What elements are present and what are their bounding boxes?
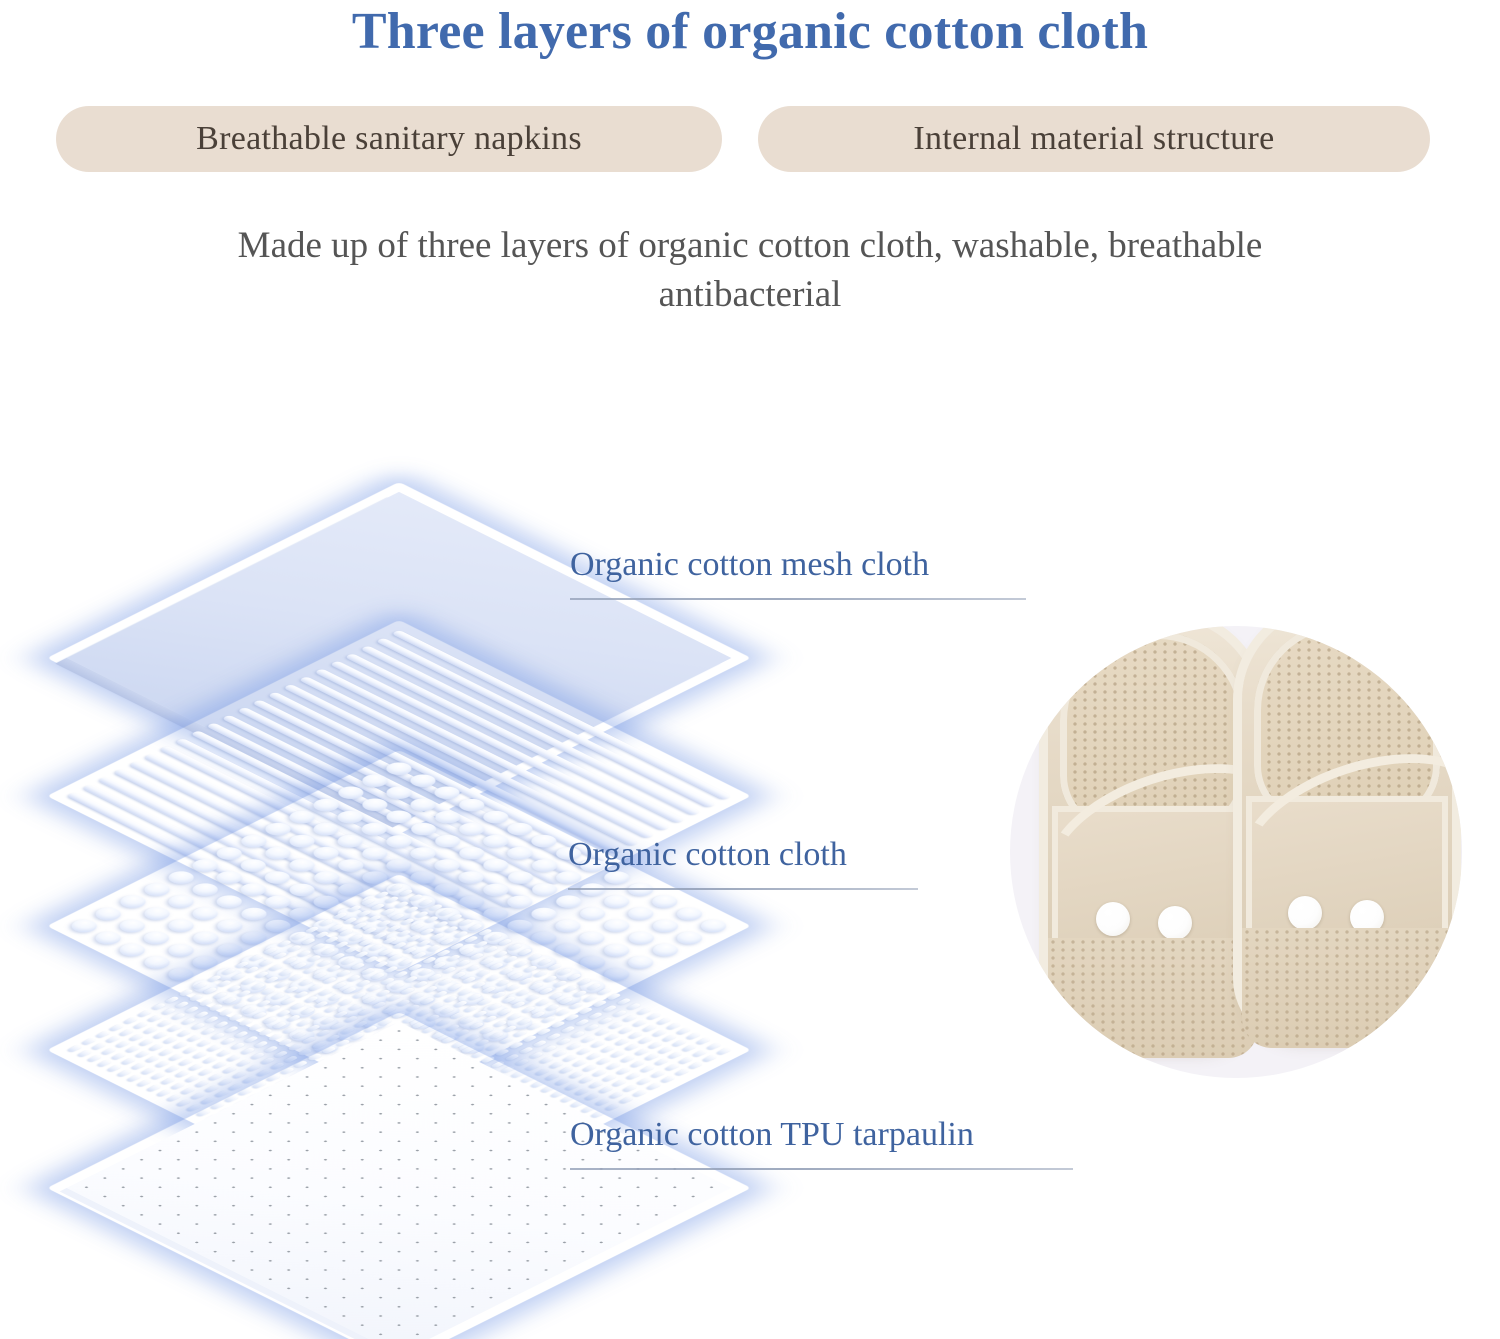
pile-tuft [370, 903, 386, 911]
callout-underline [568, 888, 918, 890]
pile-tuft [338, 929, 354, 937]
cotton-bead [406, 796, 441, 814]
callout-underline [570, 598, 1026, 600]
pile-tuft [487, 933, 503, 941]
pile-tuft [676, 1028, 692, 1036]
pile-tuft [444, 926, 460, 934]
pile-tuft [136, 1079, 152, 1087]
pile-tuft [418, 899, 434, 907]
badge-breathable-sanitary-napkins: Breathable sanitary napkins [56, 106, 722, 172]
pile-tuft [133, 1022, 149, 1030]
infographic-page: Three layers of organic cotton cloth Bre… [0, 0, 1500, 1339]
pile-tuft [464, 935, 480, 943]
pile-tuft [420, 928, 436, 936]
badge-label: Breathable sanitary napkins [196, 120, 582, 158]
product-photo-circle [1010, 626, 1462, 1078]
pile-tuft [382, 937, 398, 945]
pile-tuft [408, 894, 424, 902]
badge-label: Internal material structure [913, 120, 1274, 158]
pile-tuft [652, 1030, 668, 1038]
pile-tuft [696, 1037, 712, 1045]
pile-tuft [390, 913, 406, 921]
pile-tuft [126, 1074, 142, 1082]
badge-internal-material-structure: Internal material structure [758, 106, 1430, 172]
snap-button [1288, 896, 1322, 930]
pile-tuft [406, 935, 422, 943]
badge-row: Breathable sanitary napkins Internal mat… [0, 106, 1500, 172]
pile-tuft [286, 945, 302, 953]
pile-tuft [328, 924, 344, 932]
pile-tuft [507, 943, 523, 951]
cotton-bead [357, 796, 392, 814]
pile-tuft [646, 1013, 662, 1021]
pile-tuft [686, 1032, 702, 1040]
pile-tuft [410, 923, 426, 931]
snap-button [1096, 902, 1130, 936]
pile-tuft [138, 1039, 154, 1047]
callout-label: Organic cotton mesh cloth [570, 546, 929, 584]
pile-tuft [678, 1056, 694, 1064]
snap-button [1158, 906, 1192, 940]
pile-tuft [144, 1055, 160, 1063]
product-photo-image [1010, 626, 1462, 1078]
pile-tuft [392, 942, 408, 950]
pile-tuft [342, 917, 358, 925]
pile-tuft [656, 1018, 672, 1026]
pile-tuft [458, 919, 474, 927]
pad-fold [1242, 928, 1452, 1048]
description-text: Made up of three layers of organic cotto… [150, 222, 1350, 320]
cloth-pad-right [1242, 626, 1452, 1038]
pile-tuft [448, 914, 464, 922]
pile-tuft [140, 1067, 156, 1075]
pile-tuft [352, 922, 368, 930]
pile-tuft [666, 1023, 682, 1031]
pile-tuft [438, 909, 454, 917]
callout-organic-cotton-tpu-tarpaulin: Organic cotton TPU tarpaulin [570, 1108, 1073, 1170]
pile-tuft [368, 944, 384, 952]
pile-tuft [124, 1046, 140, 1054]
callout-organic-cotton-cloth: Organic cotton cloth [568, 828, 918, 890]
callout-underline [570, 1168, 1073, 1170]
pile-tuft [636, 1077, 652, 1085]
pile-tuft [334, 941, 350, 949]
pile-tuft [654, 1058, 670, 1066]
cotton-bead [115, 917, 150, 935]
cotton-bead [647, 917, 682, 935]
pile-tuft [434, 921, 450, 929]
pile-tuft [394, 901, 410, 909]
pile-tuft [396, 930, 412, 938]
cloth-pad-left [1048, 626, 1258, 1048]
callout-label: Organic cotton cloth [568, 836, 847, 874]
layer-perforated-tpu-sheet [164, 953, 634, 1339]
pad-fold [1048, 938, 1258, 1058]
pile-tuft [483, 945, 499, 953]
pile-tuft [106, 1065, 122, 1073]
pile-tuft [398, 889, 414, 897]
pile-tuft [497, 938, 513, 946]
pile-tuft [128, 1034, 144, 1042]
pile-tuft [116, 1069, 132, 1077]
pile-tuft [147, 1015, 163, 1023]
pile-tuft [416, 939, 432, 947]
callout-label: Organic cotton TPU tarpaulin [570, 1116, 974, 1154]
pile-tuft [348, 934, 364, 942]
pile-tuft [650, 1070, 666, 1078]
pile-tuft [386, 925, 402, 933]
pile-tuft [430, 933, 446, 941]
pile-tuft [300, 938, 316, 946]
pile-tuft [310, 943, 326, 951]
pile-tuft [120, 1058, 136, 1066]
pile-tuft [142, 1027, 158, 1035]
pile-tuft [424, 916, 440, 924]
pile-tuft [400, 918, 416, 926]
pile-tuft [77, 1050, 93, 1058]
pile-tuft [640, 1065, 656, 1073]
layer-surface [67, 1022, 732, 1339]
pile-tuft [384, 896, 400, 904]
pile-tuft [356, 910, 372, 918]
pile-tuft [478, 928, 494, 936]
pile-tuft [130, 1062, 146, 1070]
page-title: Three layers of organic cotton cloth [0, 2, 1500, 61]
pile-tuft [376, 920, 392, 928]
pile-tuft [468, 923, 484, 931]
pile-tuft [110, 1053, 126, 1061]
pile-tuft [404, 906, 420, 914]
callout-organic-cotton-mesh-cloth: Organic cotton mesh cloth [570, 538, 1026, 600]
pile-tuft [114, 1041, 130, 1049]
pile-tuft [372, 932, 388, 940]
pile-tuft [648, 1042, 664, 1050]
pile-tuft [362, 927, 378, 935]
pile-tuft [474, 940, 490, 948]
cotton-bead [381, 784, 416, 802]
